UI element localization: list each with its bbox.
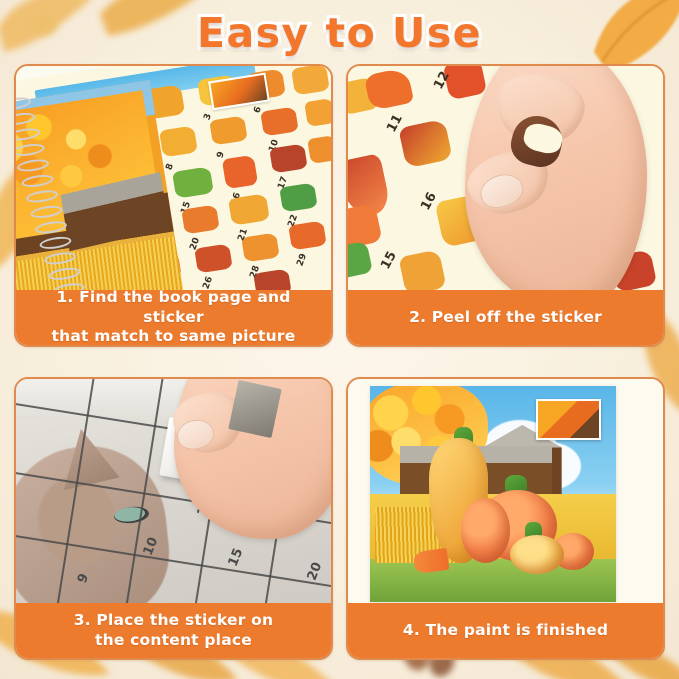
step-2-image: 11 12 16 15 22 29 24 [348,66,663,294]
step-4-image [348,379,663,607]
step-card-4: 4. The paint is finished [346,377,665,660]
pumpkin-medium [461,498,510,563]
step-3-image: 9 10 11 16 15 20 [16,379,331,607]
step-2-caption: 2. Peel off the sticker [348,290,663,345]
step-card-1: 1 2 3 6 7 8 9 10 [14,64,333,347]
steps-grid: 1 2 3 6 7 8 9 10 [14,64,665,660]
step-card-2: 11 12 16 15 22 29 24 [346,64,665,347]
page-title-container: Easy to Use [0,2,679,64]
step-3-caption-line1: 3. Place the sticker on [74,611,274,629]
step-3-caption: 3. Place the sticker on the content plac… [16,603,331,658]
step-4-caption-line1: 4. The paint is finished [403,621,608,640]
step-3-caption-line2: the content place [95,631,252,649]
step-1-caption-line2: that match to same picture [52,327,296,345]
reference-inset [536,399,601,440]
step-1-caption-line1: 1. Find the book page and sticker [56,288,290,325]
page-title: Easy to Use [197,9,482,57]
step-2-caption-line1: 2. Peel off the sticker [409,308,602,327]
step-card-3: 9 10 11 16 15 20 3. Place t [14,377,333,660]
step-4-caption: 4. The paint is finished [348,603,663,658]
step-1-caption: 1. Find the book page and sticker that m… [16,290,331,345]
step-1-image: 1 2 3 6 7 8 9 10 [16,66,331,294]
finished-artwork [370,386,616,603]
page-background: Easy to Use 1 2 3 6 [0,0,679,679]
